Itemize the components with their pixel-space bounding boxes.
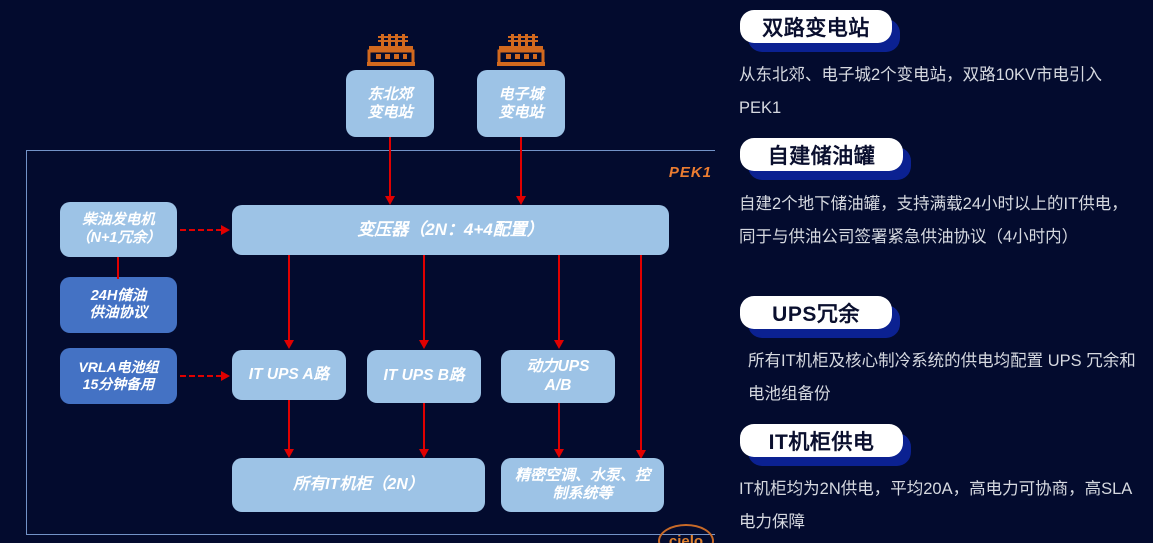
arrowhead-icon: [284, 449, 294, 458]
badge-it-rack-power[interactable]: IT机柜供电: [740, 424, 903, 457]
connector-transformer-to-cooling: [640, 255, 642, 454]
connector-transformer-to-power-ups: [558, 255, 560, 344]
node-all-it-racks[interactable]: 所有IT机柜（2N）: [232, 458, 485, 512]
power-architecture-diagram: PEK1: [0, 0, 730, 543]
feature-highlights-panel: 双路变电站 从东北郊、电子城2个变电站，双路10KV市电引入PEK1 自建储油罐…: [730, 0, 1153, 543]
paragraph-fuel-tank: 自建2个地下储油罐，支持满载24小时以上的IT供电，同于与供油公司签署紧急供油协…: [739, 188, 1139, 254]
node-transformer[interactable]: 变压器（2N：4+4配置）: [232, 205, 669, 255]
arrowhead-icon: [516, 196, 526, 205]
node-vrla-battery[interactable]: VRLA电池组 15分钟备用: [60, 348, 177, 404]
paragraph-it-rack-power: IT机柜均为2N供电，平均20A，高电力可协商，高SLA电力保障: [739, 473, 1139, 539]
arrowhead-icon: [419, 449, 429, 458]
connector-battery-to-ups-a: [180, 375, 222, 377]
arrowhead-icon: [554, 340, 564, 349]
node-diesel-generator[interactable]: 柴油发电机 （N+1冗余）: [60, 202, 177, 257]
badge-dual-substation[interactable]: 双路变电站: [740, 10, 892, 43]
pek1-label: PEK1: [669, 164, 712, 181]
badge-ups-redundancy[interactable]: UPS冗余: [740, 296, 892, 329]
power-plant-icon: [365, 34, 417, 66]
node-substation-electronic-city[interactable]: 电子城 变电站: [477, 70, 565, 137]
paragraph-dual-substation: 从东北郊、电子城2个变电站，双路10KV市电引入PEK1: [739, 59, 1139, 125]
badge-label: IT机柜供电: [740, 424, 903, 457]
node-cooling-systems[interactable]: 精密空调、水泵、控 制系统等: [501, 458, 664, 512]
arrowhead-icon: [221, 371, 230, 381]
badge-label: UPS冗余: [740, 296, 892, 329]
connector-ups-a-to-racks: [288, 400, 290, 452]
arrowhead-icon: [221, 225, 230, 235]
connector-power-ups-to-cooling: [558, 403, 560, 452]
power-plant-icon: [495, 34, 547, 66]
connector-generator-to-fuel: [117, 257, 119, 279]
connector-transformer-to-ups-b: [423, 255, 425, 344]
connector-transformer-to-ups-a: [288, 255, 290, 344]
badge-label: 自建储油罐: [740, 138, 903, 171]
connector-generator-to-transformer: [180, 229, 222, 231]
arrowhead-icon: [419, 340, 429, 349]
arrowhead-icon: [554, 449, 564, 458]
connector-substation-b-to-transformer: [520, 137, 522, 199]
connector-substation-a-to-transformer: [389, 137, 391, 199]
node-it-ups-a[interactable]: IT UPS A路: [232, 350, 346, 400]
badge-fuel-tank[interactable]: 自建储油罐: [740, 138, 903, 171]
arrowhead-icon: [385, 196, 395, 205]
paragraph-ups-redundancy: 所有IT机柜及核心制冷系统的供电均配置 UPS 冗余和电池组备份: [748, 345, 1148, 411]
badge-label: 双路变电站: [740, 10, 892, 43]
connector-ups-b-to-racks: [423, 403, 425, 452]
slide-canvas: PEK1: [0, 0, 1153, 543]
node-power-ups[interactable]: 动力UPS A/B: [501, 350, 615, 403]
node-fuel-storage-agreement[interactable]: 24H储油 供油协议: [60, 277, 177, 333]
node-substation-northeast[interactable]: 东北郊 变电站: [346, 70, 434, 137]
node-it-ups-b[interactable]: IT UPS B路: [367, 350, 481, 403]
arrowhead-icon: [284, 340, 294, 349]
